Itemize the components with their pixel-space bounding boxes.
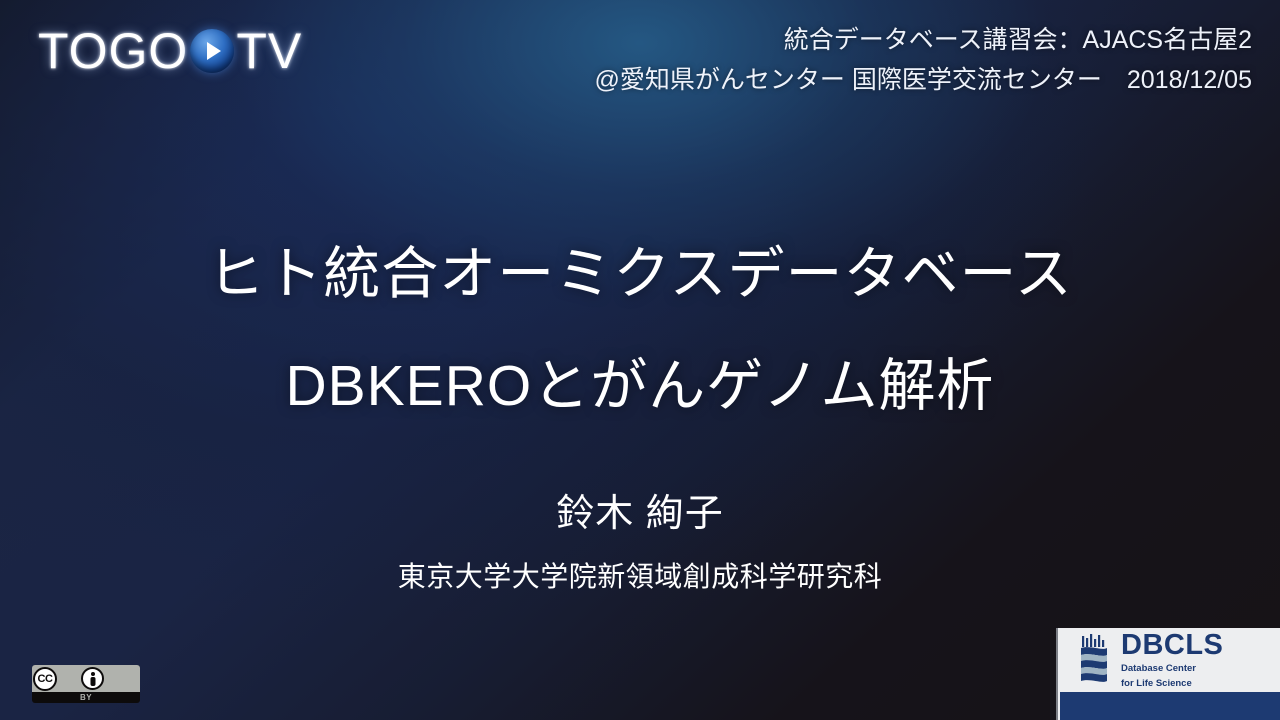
dbcls-subtitle-line-2: for Life Science bbox=[1121, 678, 1223, 690]
logo-text-tv: TV bbox=[236, 26, 302, 76]
cc-icon: CC bbox=[33, 667, 57, 691]
togo-tv-logo: TOGO TV bbox=[38, 20, 302, 82]
dbcls-subtitle-line-1: Database Center bbox=[1121, 663, 1223, 675]
dbcls-helix-icon bbox=[1076, 634, 1112, 686]
page-title: ヒト統合オーミクスデータベース DBKEROとがんゲノム解析 bbox=[0, 218, 1280, 442]
title-slide: TOGO TV 統合データベース講習会：AJACS名古屋2 @愛知県がんセンター… bbox=[0, 0, 1280, 720]
dbcls-text-block: DBCLS Database Center for Life Science bbox=[1121, 631, 1223, 690]
event-header: 統合データベース講習会：AJACS名古屋2 @愛知県がんセンター 国際医学交流セ… bbox=[595, 20, 1252, 100]
play-icon bbox=[190, 29, 234, 73]
cc-by-label: BY bbox=[32, 692, 140, 703]
event-venue-date-line: @愛知県がんセンター 国際医学交流センター 2018/12/05 bbox=[595, 60, 1252, 100]
presenter-affiliation: 東京大学大学院新領域創成科学研究科 bbox=[0, 558, 1280, 596]
cc-badge-bar: CC bbox=[32, 665, 140, 692]
dbcls-logo: DBCLS Database Center for Life Science bbox=[1058, 628, 1280, 692]
dbcls-name: DBCLS bbox=[1121, 631, 1223, 660]
logo-text-togo: TOGO bbox=[38, 26, 188, 76]
title-line-1: ヒト統合オーミクスデータベース bbox=[0, 218, 1280, 330]
presenter-block: 鈴木 絢子 東京大学大学院新領域創成科学研究科 bbox=[0, 488, 1280, 596]
attribution-person-icon bbox=[81, 667, 104, 690]
presenter-name: 鈴木 絢子 bbox=[0, 488, 1280, 540]
dbcls-logo-panel: DBCLS Database Center for Life Science bbox=[1056, 628, 1280, 720]
dbcls-panel-footer-bar bbox=[1060, 692, 1280, 720]
creative-commons-badge: CC BY bbox=[32, 665, 140, 703]
event-title-line: 統合データベース講習会：AJACS名古屋2 bbox=[595, 20, 1252, 60]
title-line-2: DBKEROとがんゲノム解析 bbox=[0, 330, 1280, 442]
